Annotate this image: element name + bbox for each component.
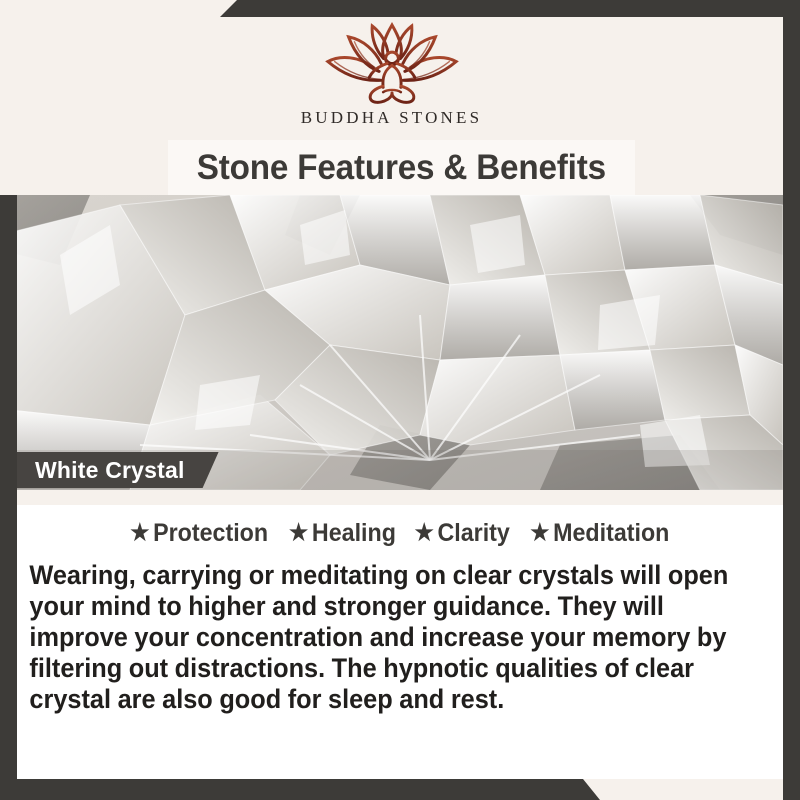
benefit-item: ★Clarity <box>415 519 510 548</box>
benefit-label: Meditation <box>553 519 669 547</box>
benefit-label: Clarity <box>438 519 510 547</box>
benefit-label: Healing <box>312 519 396 547</box>
stone-benefits-poster: BUDDHA STONES Stone Features & Benefits <box>0 0 800 800</box>
benefits-list: ★Protection ★Healing ★Clarity ★Meditatio… <box>17 505 783 548</box>
benefit-item: ★Healing <box>289 519 396 548</box>
stone-name: White Crystal <box>35 457 185 484</box>
content-panel: ★Protection ★Healing ★Clarity ★Meditatio… <box>17 490 783 779</box>
benefit-label: Protection <box>153 519 268 547</box>
star-icon: ★ <box>130 519 149 545</box>
star-icon: ★ <box>289 519 308 545</box>
page-title: Stone Features & Benefits <box>197 148 606 188</box>
lotus-meditation-figure-icon <box>317 22 467 106</box>
star-icon: ★ <box>530 519 549 545</box>
decorative-frame-left <box>0 195 17 800</box>
benefit-item: ★Protection <box>130 519 268 548</box>
crystal-photo-image <box>0 195 783 490</box>
brand-logo-block: BUDDHA STONES <box>0 22 783 128</box>
title-banner: Stone Features & Benefits <box>168 140 635 195</box>
benefit-item: ★Meditation <box>530 519 669 548</box>
decorative-frame-top <box>220 0 800 17</box>
stone-name-tag: White Crystal <box>17 452 219 488</box>
description-text: Wearing, carrying or meditating on clear… <box>17 548 749 715</box>
crystal-photo <box>0 195 783 490</box>
content-inner: ★Protection ★Healing ★Clarity ★Meditatio… <box>17 505 783 779</box>
brand-name: BUDDHA STONES <box>0 108 783 128</box>
star-icon: ★ <box>415 519 434 545</box>
decorative-frame-bottom <box>0 779 600 800</box>
decorative-frame-right <box>783 0 800 800</box>
